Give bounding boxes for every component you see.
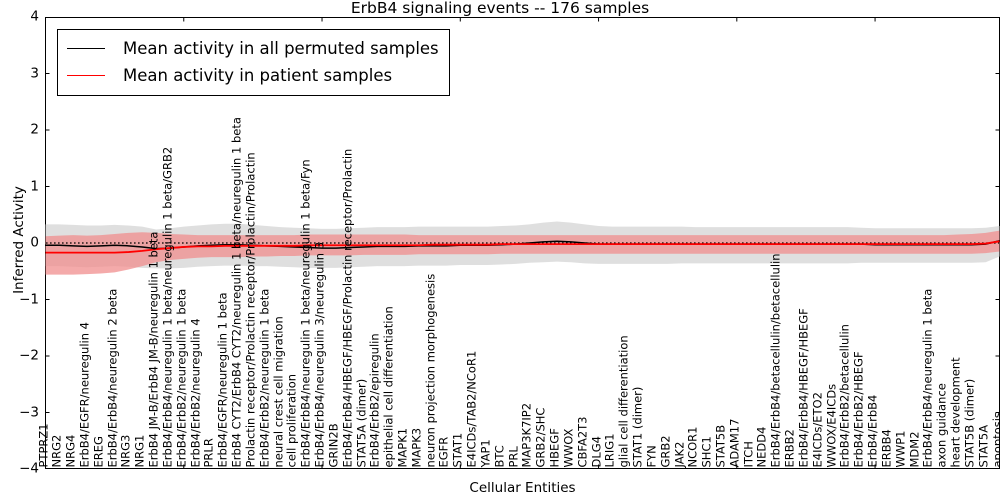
- y-tick-6: 2: [5, 123, 39, 137]
- x-axis-label: Cellular Entities: [45, 480, 1000, 496]
- y-tick-3: −1: [5, 293, 39, 307]
- legend-label-permuted: Mean activity in all permuted samples: [123, 39, 439, 58]
- chart-title: ErbB4 signaling events -- 176 samples: [0, 0, 1000, 17]
- y-tick-7: 3: [5, 67, 39, 81]
- chart-figure: ErbB4 signaling events -- 176 samples In…: [0, 0, 1000, 500]
- legend-label-patient: Mean activity in patient samples: [123, 66, 392, 85]
- y-tick-4: 0: [5, 236, 39, 250]
- legend-swatch-patient: [67, 75, 105, 76]
- y-tick-2: −2: [5, 349, 39, 363]
- chart-legend: Mean activity in all permuted samples Me…: [57, 29, 450, 96]
- legend-item-patient: Mean activity in patient samples: [67, 62, 439, 89]
- legend-item-permuted: Mean activity in all permuted samples: [67, 35, 439, 62]
- y-tick-0: −4: [5, 462, 39, 476]
- y-axis-tick-labels: −4−3−2−101234: [0, 17, 39, 469]
- y-tick-1: −3: [5, 406, 39, 420]
- legend-swatch-permuted: [67, 48, 105, 49]
- y-tick-5: 1: [5, 180, 39, 194]
